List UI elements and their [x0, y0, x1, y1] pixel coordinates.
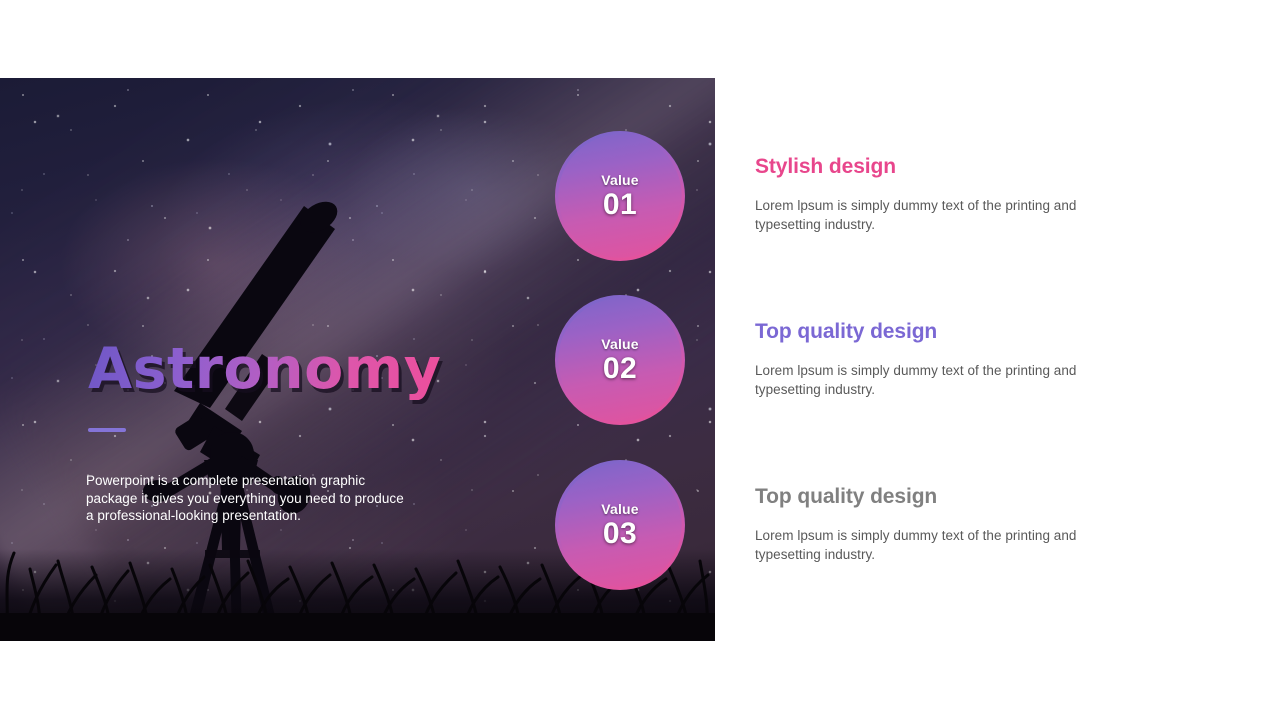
circle-number-02: 02 — [603, 353, 637, 385]
circle-number-03: 03 — [603, 518, 637, 550]
hero-divider — [88, 428, 126, 432]
value-circle-01[interactable]: Value 01 — [555, 131, 685, 261]
feature-body-3: Lorem lpsum is simply dummy text of the … — [755, 527, 1085, 564]
value-circle-02[interactable]: Value 02 — [555, 295, 685, 425]
feature-block-3: Top quality design Lorem lpsum is simply… — [755, 485, 1085, 564]
circle-number-01: 01 — [603, 189, 637, 221]
slide-canvas: Astronomy Powerpoint is a complete prese… — [0, 0, 1280, 720]
value-circle-03[interactable]: Value 03 — [555, 460, 685, 590]
feature-title-2: Top quality design — [755, 320, 1085, 343]
feature-title-3: Top quality design — [755, 485, 1085, 508]
hero-description: Powerpoint is a complete presentation gr… — [86, 472, 406, 525]
feature-title-1: Stylish design — [755, 155, 1085, 178]
hero-title: Astronomy — [88, 340, 441, 400]
circle-label-03: Value — [601, 501, 639, 517]
feature-block-2: Top quality design Lorem lpsum is simply… — [755, 320, 1085, 399]
feature-block-1: Stylish design Lorem lpsum is simply dum… — [755, 155, 1085, 234]
feature-body-1: Lorem lpsum is simply dummy text of the … — [755, 197, 1085, 234]
circle-label-01: Value — [601, 172, 639, 188]
feature-body-2: Lorem lpsum is simply dummy text of the … — [755, 362, 1085, 399]
circle-label-02: Value — [601, 336, 639, 352]
